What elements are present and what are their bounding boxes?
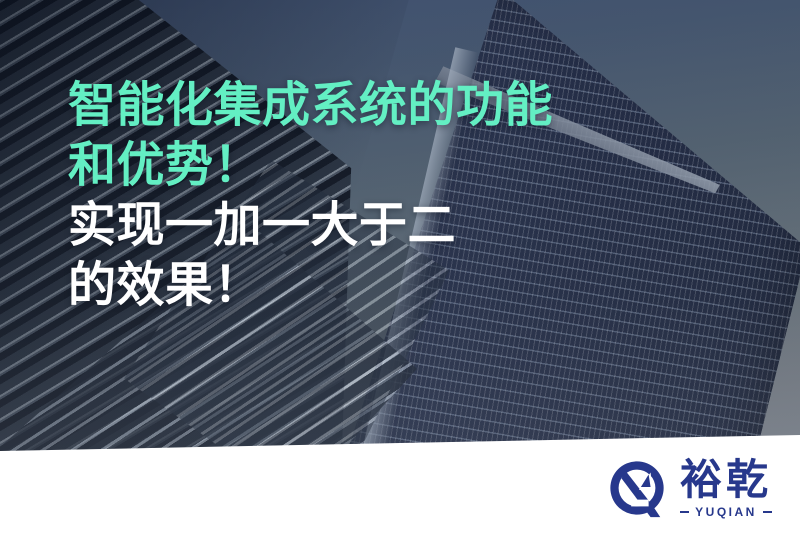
headline-line-1: 智能化集成系统的功能	[68, 76, 668, 136]
logo-subtitle-row: YUQIAN	[680, 505, 772, 519]
logo-wordmark: 裕乾 YUQIAN	[680, 457, 772, 519]
logo-company-name-cn: 裕乾	[680, 457, 772, 503]
yuqian-circle-monogram-icon	[606, 457, 668, 519]
headline-line-3: 实现一加一大于二	[68, 196, 668, 256]
logo-company-name-en: YUQIAN	[695, 505, 757, 519]
logo-rule-right	[763, 511, 772, 513]
headline-line-4: 的效果！	[68, 256, 668, 316]
promo-banner: 智能化集成系统的功能 和优势！ 实现一加一大于二 的效果！ 裕乾 YUQIAN	[0, 0, 800, 533]
headline-line-2: 和优势！	[68, 136, 668, 196]
logo-rule-left	[680, 511, 689, 513]
headline-block: 智能化集成系统的功能 和优势！ 实现一加一大于二 的效果！	[68, 76, 668, 316]
brand-logo[interactable]: 裕乾 YUQIAN	[606, 457, 772, 519]
